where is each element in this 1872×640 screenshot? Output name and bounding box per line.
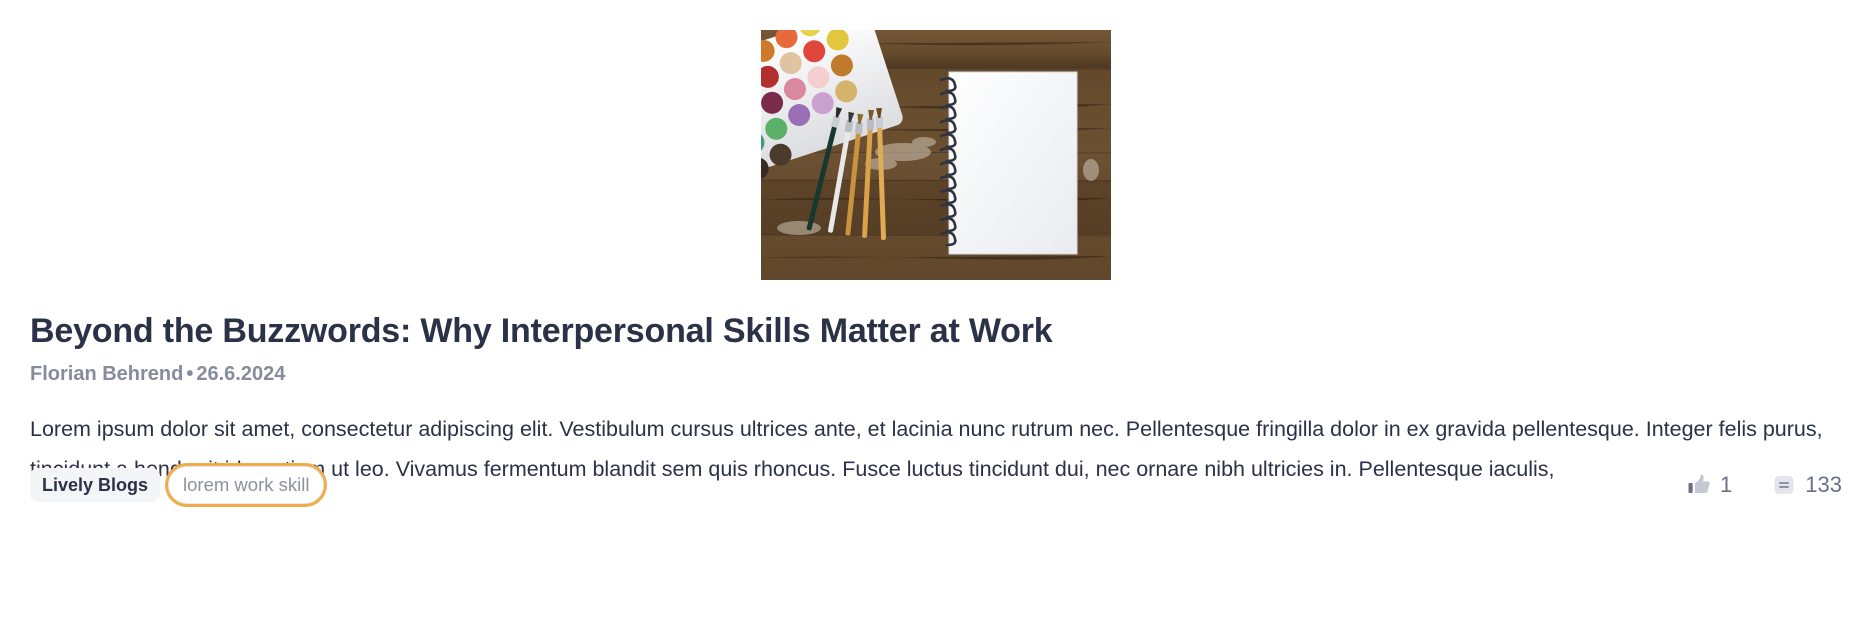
post-title[interactable]: Beyond the Buzzwords: Why Interpersonal … [30, 280, 1842, 352]
post-image-wrapper [30, 0, 1842, 280]
likes-count: 1 [1720, 472, 1732, 498]
post-tags-group: Lively Blogs lorem work skill [30, 466, 324, 504]
byline-separator: • [183, 363, 196, 385]
tag-search-input[interactable]: lorem work skill [168, 466, 324, 504]
blog-post-card: Beyond the Buzzwords: Why Interpersonal … [0, 0, 1872, 640]
post-byline: Florian Behrend•26.6.2024 [30, 352, 1842, 387]
blog-name-chip[interactable]: Lively Blogs [30, 468, 160, 502]
comments-count: 133 [1805, 472, 1842, 498]
thumbs-up-icon [1687, 473, 1711, 497]
post-stats-group: 1 133 [1687, 472, 1842, 498]
post-author[interactable]: Florian Behrend [30, 363, 183, 385]
comments-stat[interactable]: 133 [1772, 472, 1842, 498]
comment-lines-icon [1772, 473, 1796, 497]
post-hero-image[interactable] [761, 30, 1111, 280]
post-date: 26.6.2024 [196, 363, 285, 385]
post-footer: Lively Blogs lorem work skill 1 [30, 466, 1842, 504]
likes-stat[interactable]: 1 [1687, 472, 1732, 498]
